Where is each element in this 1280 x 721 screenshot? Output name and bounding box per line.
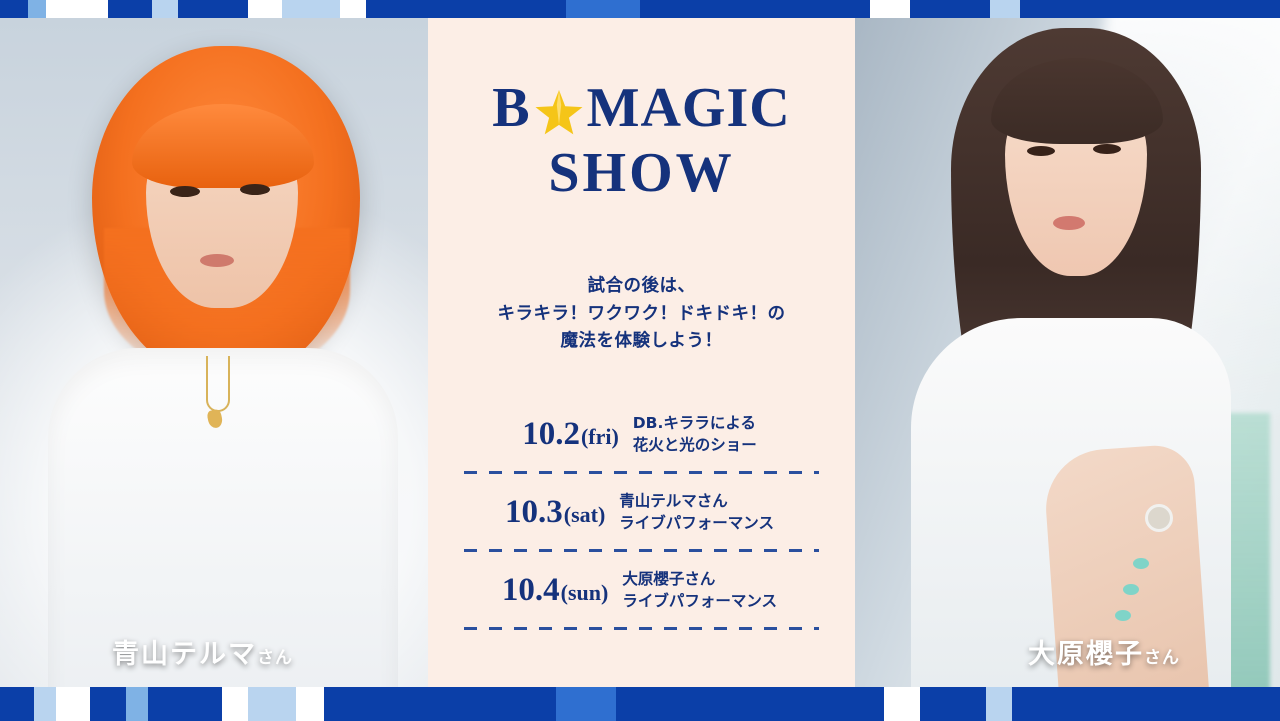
schedule-date-day: (sun) (561, 580, 609, 606)
necklace-icon (206, 356, 230, 412)
ring-icon (1145, 504, 1173, 532)
schedule-date-number: 10.4 (502, 572, 560, 609)
schedule-divider (428, 621, 855, 637)
schedule-description-line1: DB.キララによる (633, 412, 757, 434)
left-photo-background (0, 18, 428, 703)
left-eye (170, 186, 200, 197)
schedule-date-number: 10.2 (522, 416, 580, 453)
event-logo-line1: B MAGIC (428, 80, 855, 137)
band-block (90, 687, 126, 721)
band-block (126, 687, 148, 721)
schedule-row: 10.2 (fri) DB.キララによる 花火と光のショー (428, 403, 855, 465)
schedule-description: 青山テルマさん ライブパフォーマンス (619, 490, 774, 534)
info-panel: B MAGIC SHOW 試合の後は、 キラキラ！ワクワク！ドキドキ！の (428, 18, 855, 703)
nail-accent (1133, 558, 1149, 569)
band-block (56, 687, 90, 721)
artist-name-right-honorific: さん (1144, 648, 1180, 668)
dashed-line (464, 627, 819, 630)
band-block (148, 687, 222, 721)
band-block (324, 687, 556, 721)
band-block (1012, 687, 1280, 721)
band-block (34, 687, 56, 721)
artist-name-right: 大原櫻子さん (1028, 632, 1180, 671)
schedule-description-line1: 青山テルマさん (619, 490, 774, 512)
event-logo: B MAGIC SHOW (428, 80, 855, 202)
schedule-description-line1: 大原櫻子さん (622, 568, 777, 590)
bottom-decorative-band (0, 687, 1280, 721)
schedule-date-day: (sat) (564, 502, 606, 528)
artist-photo-left: 青山テルマさん (0, 18, 428, 703)
schedule-row: 10.3 (sat) 青山テルマさん ライブパフォーマンス (428, 481, 855, 543)
band-block (248, 687, 296, 721)
band-block (222, 687, 248, 721)
tagline-line-1: 試合の後は、 (428, 273, 855, 301)
schedule-date-number: 10.3 (505, 494, 563, 531)
poster-stage: 青山テルマさん B MAGIC (0, 18, 1280, 703)
nail-accent (1115, 610, 1131, 621)
nail-accent (1123, 584, 1139, 595)
band-block (0, 687, 34, 721)
band-block (986, 687, 1012, 721)
schedule-divider (428, 465, 855, 481)
schedule-date-day: (fri) (581, 424, 619, 450)
artist-name-right-text: 大原櫻子 (1028, 639, 1144, 670)
tagline-line-3: 魔法を体験しよう！ (428, 328, 855, 356)
right-lips (1053, 216, 1085, 230)
dashed-line (464, 549, 819, 552)
artist-name-left: 青山テルマさん (112, 632, 293, 671)
left-lips (200, 254, 234, 267)
promo-poster: 青山テルマさん B MAGIC (0, 0, 1280, 721)
star-icon (533, 83, 585, 135)
band-block (616, 687, 884, 721)
dashed-line (464, 471, 819, 474)
event-logo-b: B (492, 80, 530, 137)
artist-name-left-text: 青山テルマ (112, 639, 257, 670)
right-eye (1093, 144, 1121, 154)
schedule-description: 大原櫻子さん ライブパフォーマンス (622, 568, 777, 612)
event-logo-magic: MAGIC (587, 80, 791, 137)
band-block (296, 687, 324, 721)
artist-photo-right: 大原櫻子さん (855, 18, 1280, 703)
band-block (920, 687, 986, 721)
schedule-description-line2: 花火と光のショー (633, 434, 757, 456)
schedule-row: 10.4 (sun) 大原櫻子さん ライブパフォーマンス (428, 559, 855, 621)
event-logo-line2: SHOW (428, 145, 855, 202)
band-block (884, 687, 920, 721)
band-block (556, 687, 616, 721)
schedule-divider (428, 543, 855, 559)
artist-name-left-honorific: さん (257, 648, 293, 668)
schedule-description-line2: ライブパフォーマンス (622, 590, 777, 612)
schedule-description: DB.キララによる 花火と光のショー (633, 412, 757, 456)
schedule-description-line2: ライブパフォーマンス (619, 512, 774, 534)
left-eye (240, 184, 270, 195)
event-tagline: 試合の後は、 キラキラ！ワクワク！ドキドキ！の 魔法を体験しよう！ (428, 273, 855, 356)
schedule-list: 10.2 (fri) DB.キララによる 花火と光のショー 10.3 (428, 403, 855, 637)
schedule-date: 10.3 (sat) (505, 494, 605, 531)
schedule-date: 10.4 (sun) (502, 572, 608, 609)
schedule-date: 10.2 (fri) (522, 416, 619, 453)
right-eye (1027, 146, 1055, 156)
tagline-line-2: キラキラ！ワクワク！ドキドキ！の (428, 301, 855, 329)
right-photo-background (855, 18, 1280, 703)
